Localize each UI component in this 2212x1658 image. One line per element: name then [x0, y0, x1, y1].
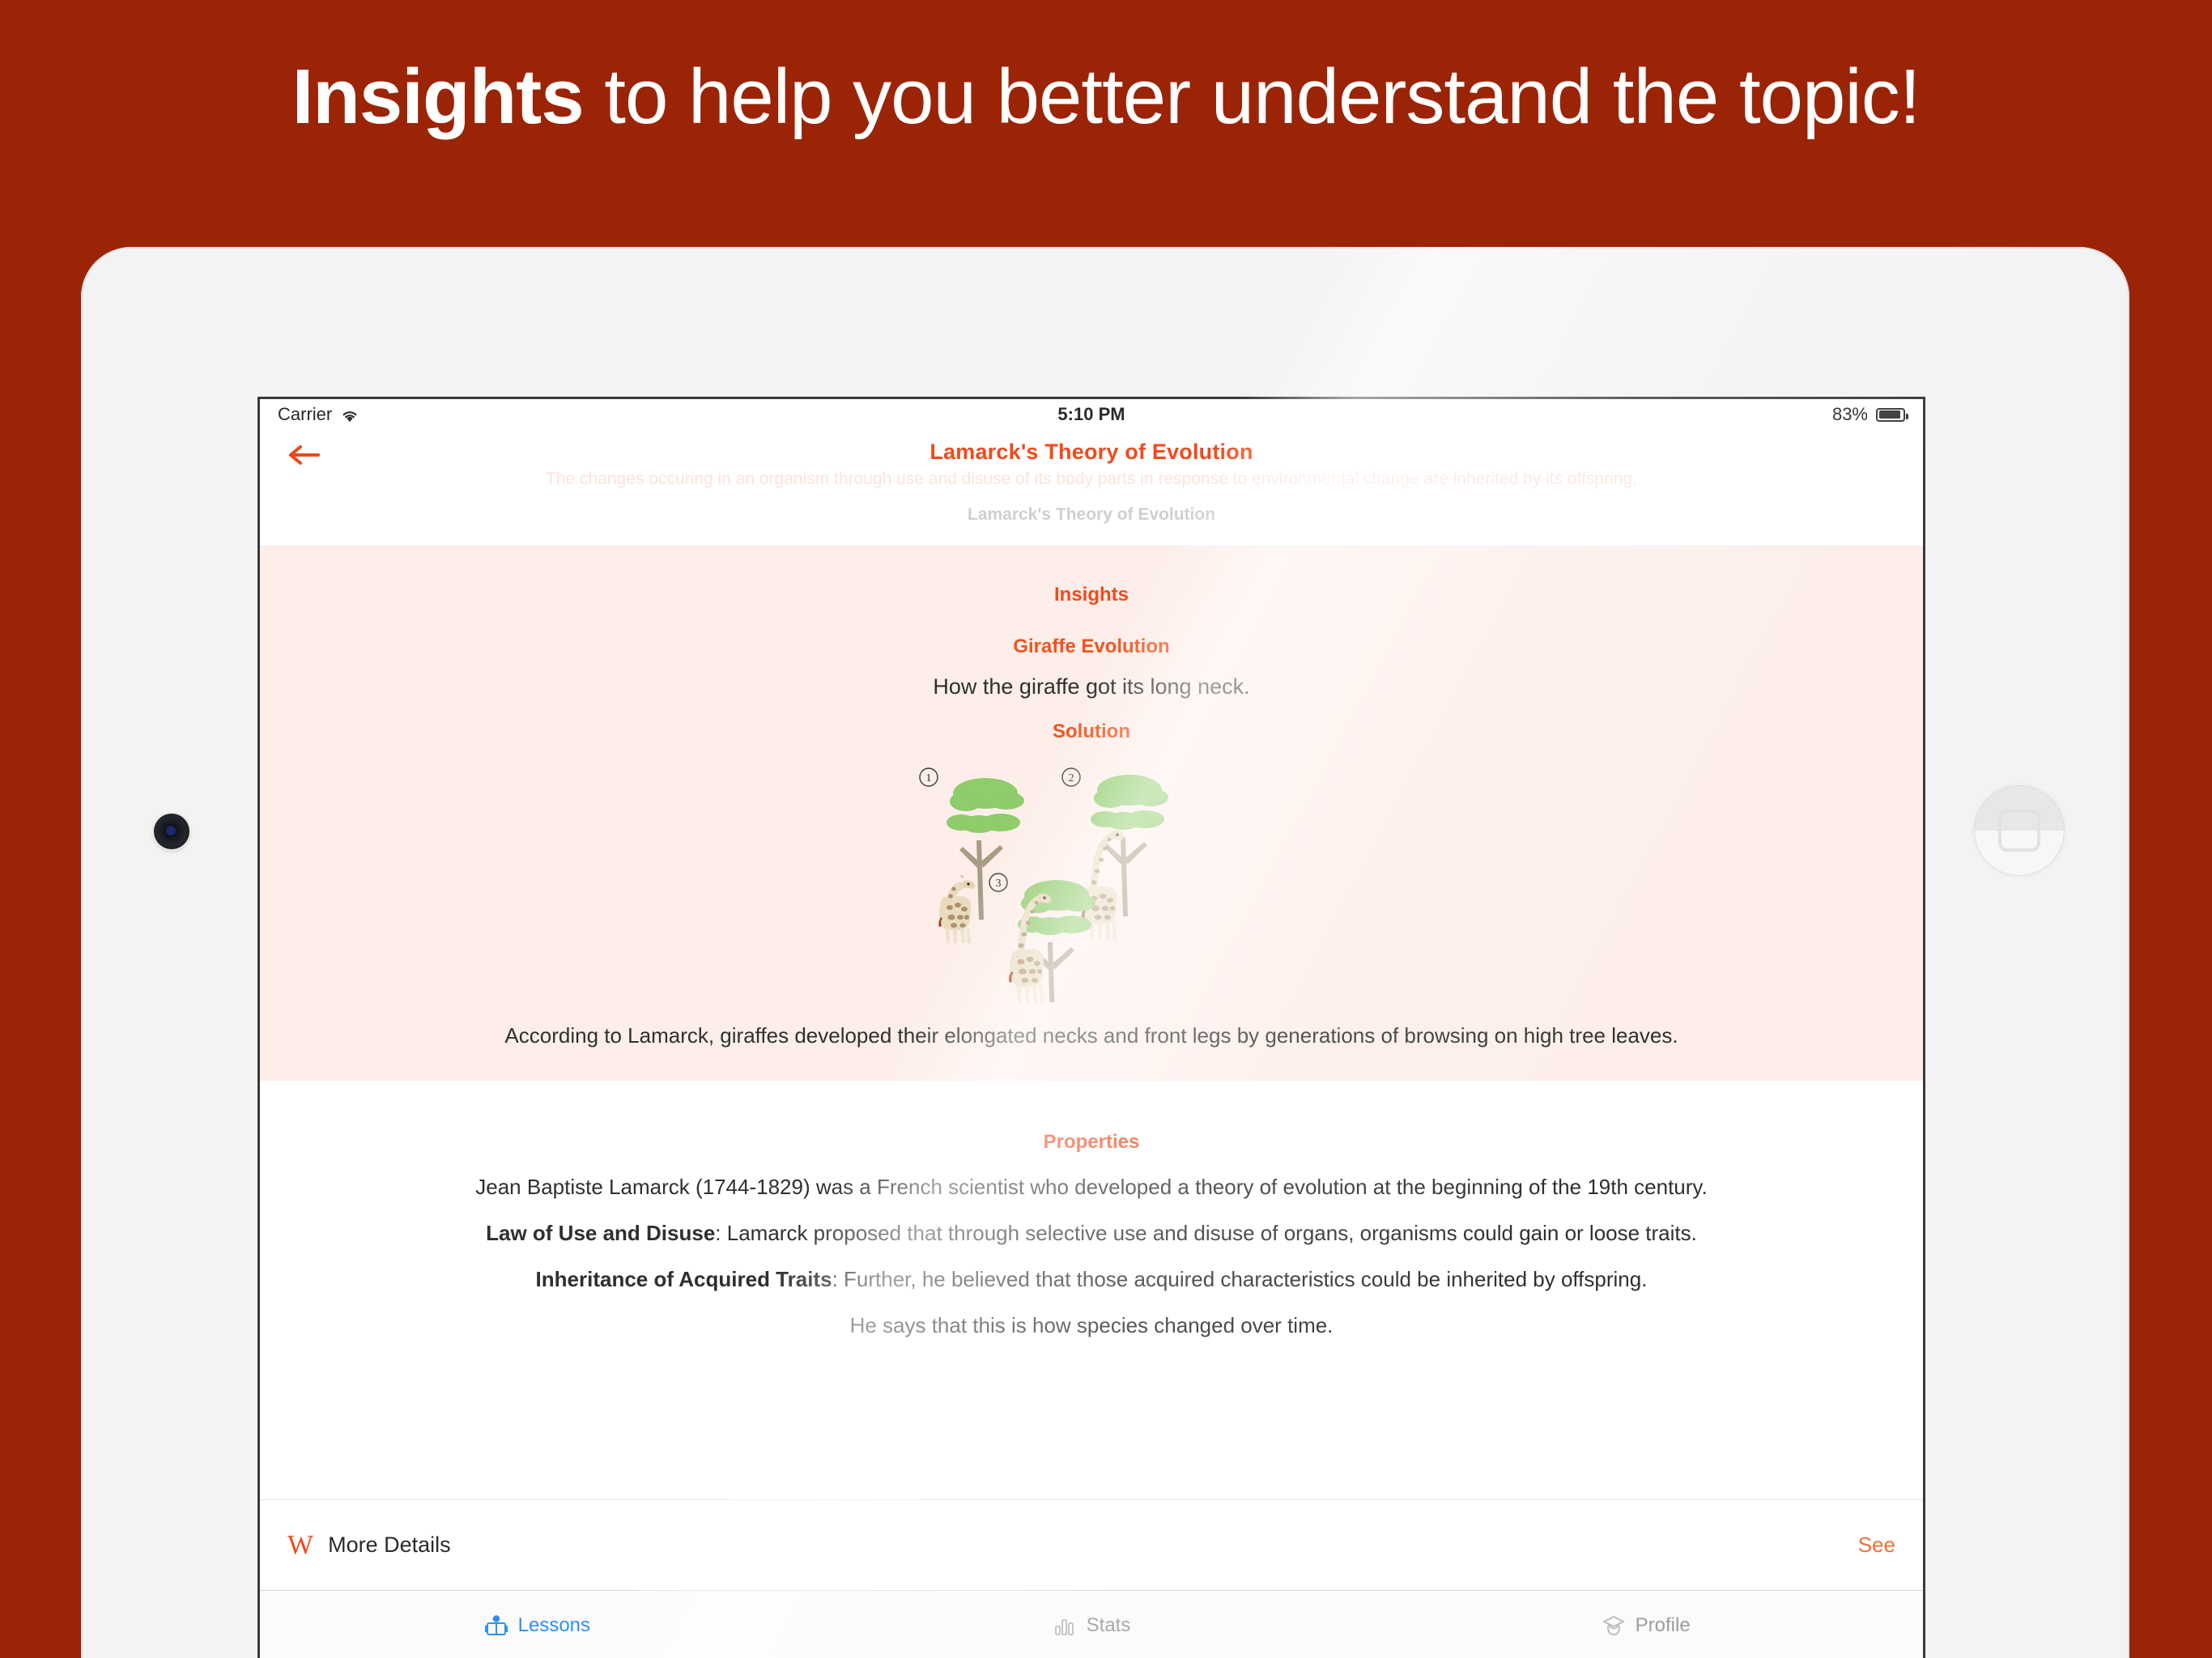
promo-headline-rest: to help you better understand the topic! [584, 53, 1921, 140]
page-title: Lamarck's Theory of Evolution [260, 440, 1923, 465]
tab-lessons[interactable]: Lessons [260, 1613, 815, 1638]
battery-icon [1876, 408, 1905, 422]
tab-profile-label: Profile [1636, 1614, 1691, 1637]
back-arrow-icon[interactable] [286, 441, 328, 469]
tab-profile[interactable]: Profile [1368, 1613, 1923, 1638]
graduate-cap-icon [1602, 1613, 1626, 1638]
wifi-icon [340, 407, 359, 422]
tab-stats[interactable]: Stats [815, 1613, 1369, 1638]
battery-percent-label: 83% [1832, 404, 1868, 425]
status-bar: Carrier 5:10 PM 83% [260, 399, 1923, 430]
more-details-row[interactable]: W More Details See [260, 1499, 1923, 1590]
giraffe-evolution-illustration: 1 2 3 [260, 759, 1923, 1002]
property-line: Law of Use and Disuse: Lamarck proposed … [260, 1221, 1923, 1246]
illustration-step-2: 2 [1062, 768, 1168, 939]
secondary-title: Lamarck's Theory of Evolution [260, 505, 1923, 525]
insight-item-body: How the giraffe got its long neck. [260, 674, 1923, 699]
status-time: 5:10 PM [1057, 404, 1125, 425]
book-reader-icon [484, 1613, 508, 1638]
insight-caption: According to Lamarck, giraffes developed… [260, 1023, 1923, 1048]
property-line: He says that this is how species changed… [260, 1313, 1923, 1338]
bottom-tab-bar: Lessons Stats [260, 1590, 1923, 1658]
property-line-text: Jean Baptiste Lamarck (1744-1829) was a … [475, 1175, 1707, 1199]
carrier-label: Carrier [278, 404, 332, 425]
promo-headline-strong: Insights [292, 53, 584, 140]
faded-subtitle: The changes occuring in an organism thro… [260, 470, 1923, 489]
properties-section-title: Properties [260, 1131, 1923, 1154]
navigation-header: Lamarck's Theory of Evolution The change… [260, 430, 1923, 546]
front-camera [154, 814, 189, 849]
svg-text:1: 1 [926, 772, 932, 784]
home-button[interactable] [1974, 785, 2065, 876]
svg-text:3: 3 [996, 878, 1002, 890]
insights-section: Insights Giraffe Evolution How the giraf… [260, 546, 1923, 1081]
svg-text:2: 2 [1069, 772, 1074, 784]
property-line-bold: Inheritance of Acquired Traits [536, 1267, 832, 1291]
tab-lessons-label: Lessons [518, 1614, 590, 1637]
property-line-bold: Law of Use and Disuse [486, 1221, 715, 1245]
more-details-label: More Details [328, 1533, 451, 1558]
property-line-text: : Further, he believed that those acquir… [832, 1267, 1648, 1291]
bar-chart-icon [1053, 1613, 1077, 1638]
property-line-text: : Lamarck proposed that through selectiv… [715, 1221, 1697, 1245]
illustration-step-3: 3 [989, 874, 1095, 1002]
properties-section: Properties Jean Baptiste Lamarck (1744-1… [260, 1081, 1923, 1499]
insight-item-title: Giraffe Evolution [260, 636, 1923, 658]
tab-stats-label: Stats [1087, 1614, 1131, 1637]
illustration-step-1: 1 [920, 768, 1024, 943]
app-screen: Carrier 5:10 PM 83% [257, 397, 1925, 1658]
ipad-device-frame: Carrier 5:10 PM 83% [81, 247, 2129, 1658]
property-line: Inheritance of Acquired Traits: Further,… [260, 1267, 1923, 1292]
see-link[interactable]: See [1858, 1533, 1895, 1558]
wikipedia-w-icon: W [287, 1532, 313, 1559]
promo-headline: Insights to help you better understand t… [0, 57, 2212, 138]
insights-section-title: Insights [260, 584, 1923, 606]
insight-solution-label: Solution [260, 721, 1923, 743]
property-line-text: He says that this is how species changed… [850, 1313, 1334, 1337]
property-line: Jean Baptiste Lamarck (1744-1829) was a … [260, 1175, 1923, 1200]
